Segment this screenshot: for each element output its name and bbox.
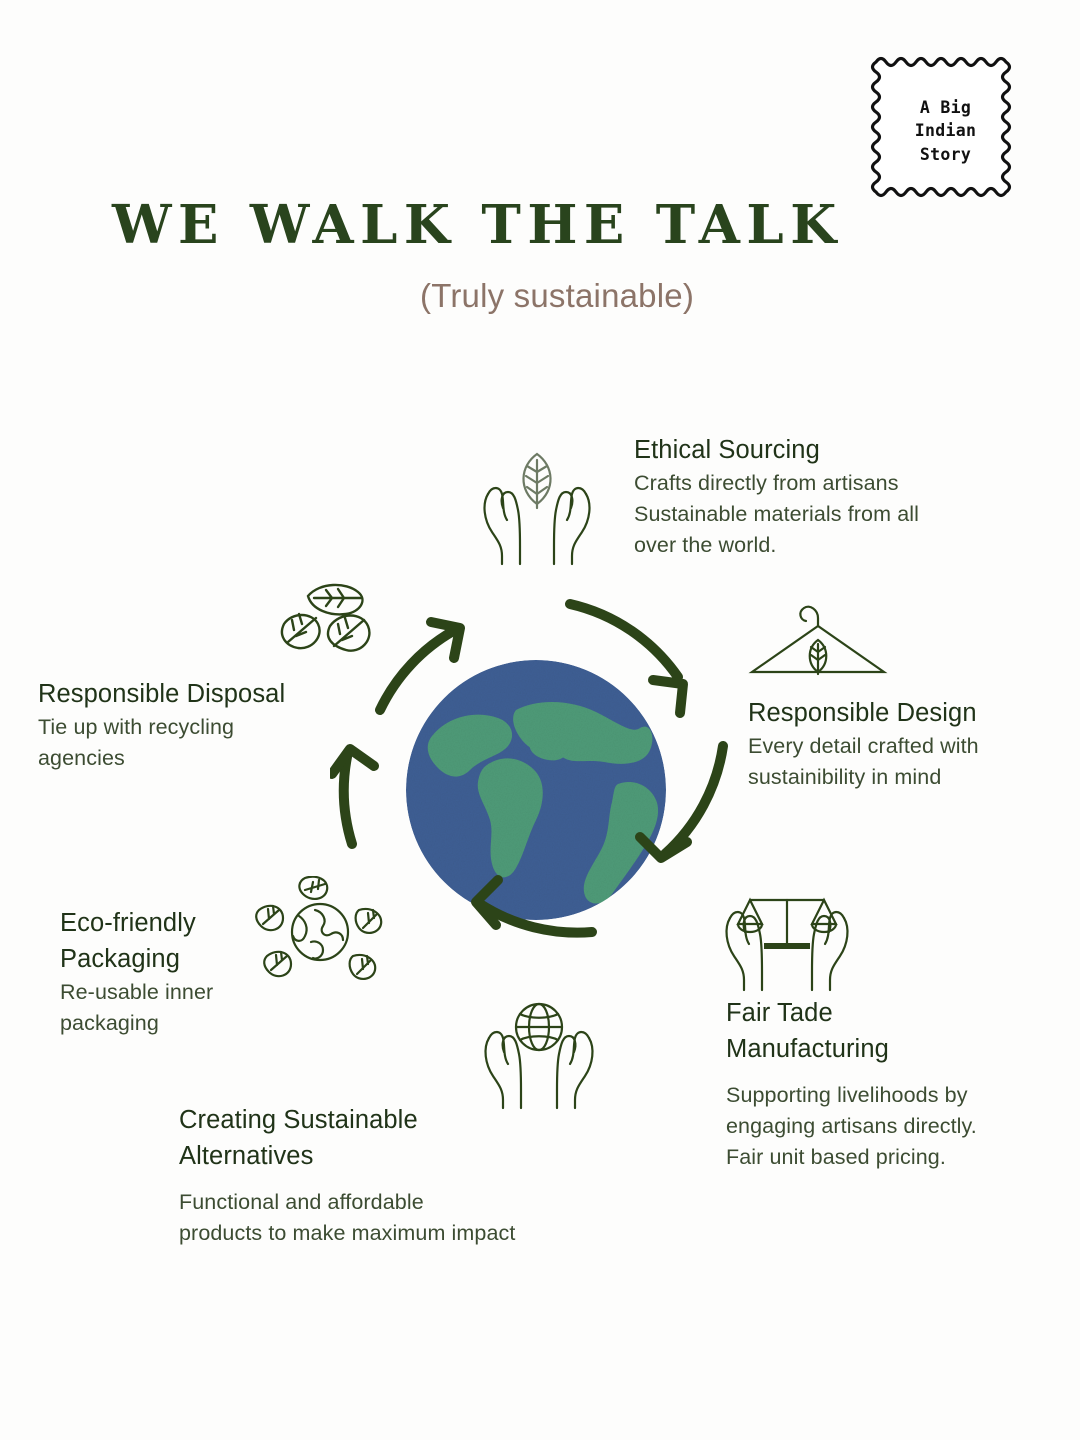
- logo-line-3: Story: [920, 143, 971, 166]
- step-heading-responsible-design: Responsible Design: [748, 695, 1048, 731]
- stamp-label: A Big Indian Story: [868, 52, 1023, 210]
- hands-holding-globe-icon: [479, 1000, 599, 1112]
- three-leaves-icon: [272, 578, 382, 678]
- step-body-eco-friendly-packaging: Re-usable inner packaging: [60, 977, 310, 1039]
- hands-holding-scales-icon: [722, 890, 852, 995]
- logo-line-1: A Big: [920, 96, 971, 119]
- infographic-page: A Big Indian Story WE WALK THE TALK (Tru…: [0, 0, 1080, 1440]
- page-title: WE WALK THE TALK: [112, 194, 843, 256]
- step-heading-ethical-sourcing: Ethical Sourcing: [634, 432, 994, 468]
- step-responsible-disposal: Responsible Disposal Tie up with recycli…: [38, 676, 358, 774]
- step-heading-responsible-disposal: Responsible Disposal: [38, 676, 358, 712]
- arrow-arc-right: [665, 746, 723, 854]
- step-responsible-design: Responsible Design Every detail crafted …: [748, 695, 1048, 793]
- step-heading-fair-trade-manufacturing: Fair Tade Manufacturing: [726, 996, 1038, 1067]
- step-heading-eco-friendly-packaging: Eco-friendly Packaging: [60, 905, 310, 977]
- page-subtitle: (Truly sustainable): [420, 277, 694, 315]
- hanger-with-leaf-icon: [748, 596, 888, 686]
- step-fair-trade-manufacturing: Fair Tade Manufacturing Supporting livel…: [726, 996, 1038, 1173]
- logo-line-2: Indian: [915, 119, 976, 142]
- brand-logo-stamp: A Big Indian Story: [868, 52, 1023, 210]
- step-creating-sustainable-alternatives: Creating Sustainable Alternatives Functi…: [179, 1102, 599, 1249]
- step-body-responsible-design: Every detail crafted with sustainibility…: [748, 731, 1048, 793]
- step-body-responsible-disposal: Tie up with recycling agencies: [38, 712, 358, 774]
- step-ethical-sourcing: Ethical Sourcing Crafts directly from ar…: [634, 432, 994, 561]
- earth-globe-illustration: [404, 658, 668, 922]
- step-body-creating-sustainable-alternatives: Functional and affordable products to ma…: [179, 1187, 599, 1249]
- step-eco-friendly-packaging: Eco-friendly Packaging Re-usable inner p…: [60, 905, 310, 1039]
- arrow-head-top-left: [431, 622, 460, 658]
- step-heading-creating-sustainable-alternatives: Creating Sustainable Alternatives: [179, 1102, 599, 1174]
- step-body-fair-trade-manufacturing: Supporting livelihoods by engaging artis…: [726, 1080, 1038, 1173]
- hands-holding-leaf-icon: [474, 442, 600, 568]
- step-body-ethical-sourcing: Crafts directly from artisans Sustainabl…: [634, 468, 994, 561]
